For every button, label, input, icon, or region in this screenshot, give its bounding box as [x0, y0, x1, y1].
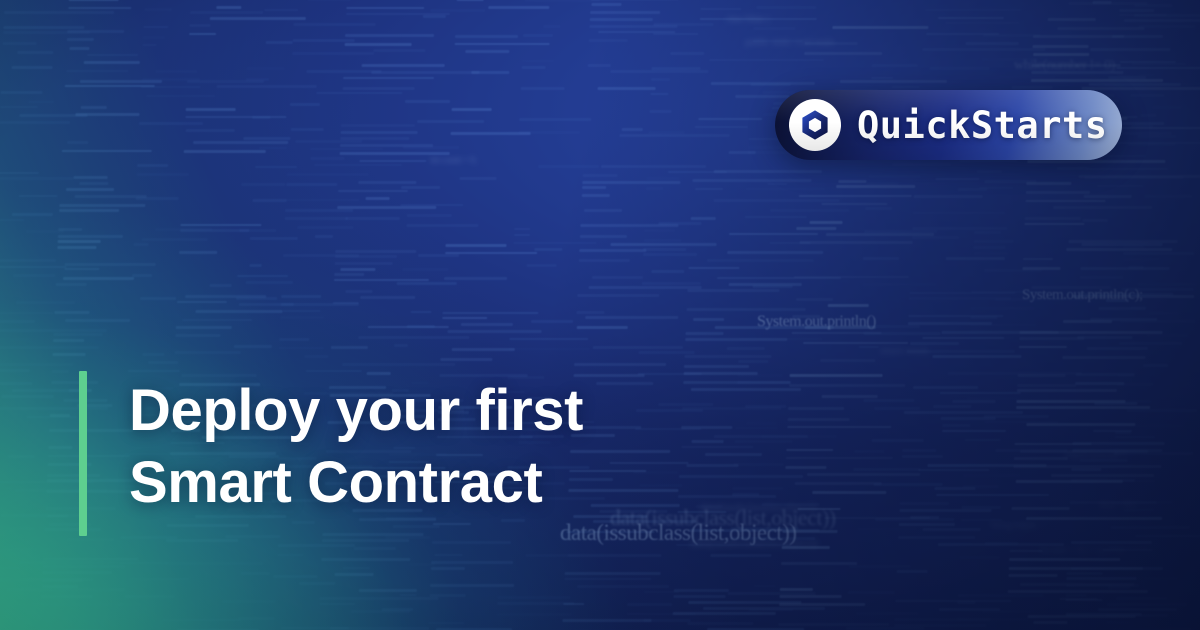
headline-accent-bar: [79, 371, 87, 536]
page-title-line-2: Smart Contract: [129, 447, 583, 519]
quickstarts-banner: data(issubclass(list,object)) data(issub…: [0, 0, 1200, 630]
page-title-line-1: Deploy your first: [129, 375, 583, 447]
chainlink-logo: [789, 99, 841, 151]
quickstarts-badge-label: QuickStarts: [857, 104, 1108, 147]
chainlink-hexagon-icon: [798, 108, 832, 142]
quickstarts-badge[interactable]: QuickStarts: [775, 90, 1122, 160]
headline-block: Deploy your first Smart Contract: [79, 371, 583, 536]
page-title: Deploy your first Smart Contract: [129, 371, 583, 536]
